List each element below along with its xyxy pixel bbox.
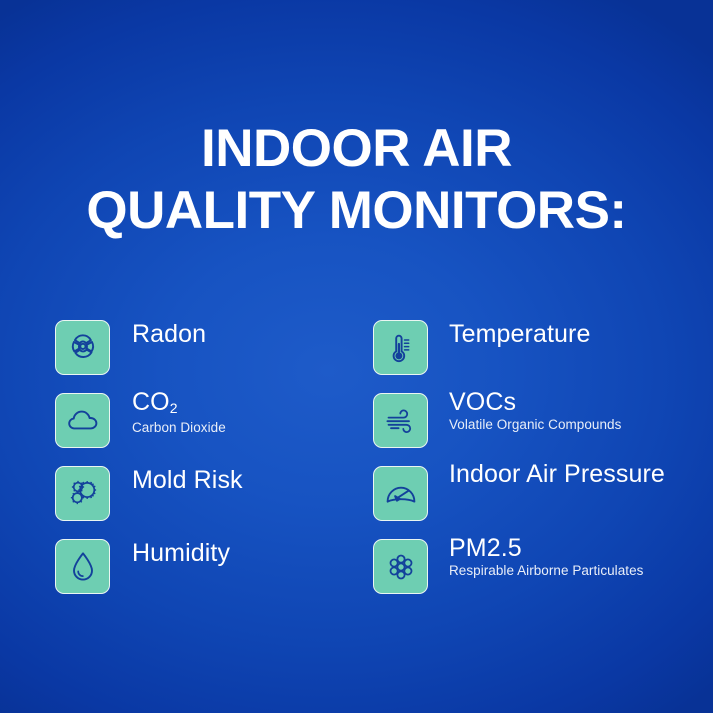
- list-item-temperature: Temperature: [373, 306, 693, 379]
- list-item-label-co2: CO2: [132, 388, 226, 420]
- list-item-sublabel-pm25: Respirable Airborne Particulates: [449, 563, 643, 579]
- list-item-humidity: Humidity: [55, 525, 355, 598]
- tile-vocs: [373, 393, 428, 448]
- list-item-co2: CO2 Carbon Dioxide: [55, 379, 355, 452]
- label-wrap-indoor-air-pressure: Indoor Air Pressure: [449, 452, 689, 489]
- label-wrap-vocs: VOCs Volatile Organic Compounds: [449, 379, 621, 433]
- tile-co2: [55, 393, 110, 448]
- wind-flow-icon: [382, 402, 420, 440]
- tile-mold-risk: [55, 466, 110, 521]
- page-title-line-1: INDOOR AIR: [0, 118, 713, 180]
- list-item-label-indoor-air-pressure: Indoor Air Pressure: [449, 460, 689, 489]
- label-wrap-co2: CO2 Carbon Dioxide: [132, 379, 226, 436]
- label-wrap-pm25: PM2.5 Respirable Airborne Particulates: [449, 525, 643, 579]
- list-item-label-pm25: PM2.5: [449, 534, 643, 563]
- cloud-icon: [64, 402, 102, 440]
- list-item-label-temperature: Temperature: [449, 320, 590, 349]
- list-item-mold-risk: Mold Risk: [55, 452, 355, 525]
- list-item-sublabel-co2: Carbon Dioxide: [132, 420, 226, 436]
- list-item-label-mold-risk: Mold Risk: [132, 466, 243, 495]
- mold-spores-icon: [64, 475, 102, 513]
- co2-prefix: CO: [132, 388, 170, 416]
- list-item-pm25: PM2.5 Respirable Airborne Particulates: [373, 525, 693, 598]
- label-wrap-humidity: Humidity: [132, 525, 230, 568]
- label-wrap-radon: Radon: [132, 306, 206, 349]
- monitor-list-right-column: Temperature: [373, 306, 693, 598]
- monitor-list-left-column: Radon CO2 Carbon Dioxide: [55, 306, 355, 598]
- tile-indoor-air-pressure: [373, 466, 428, 521]
- list-item-radon: Radon: [55, 306, 355, 379]
- co2-subscript: 2: [170, 400, 178, 416]
- tile-temperature: [373, 320, 428, 375]
- page-title: INDOOR AIR QUALITY MONITORS:: [0, 118, 713, 242]
- thermometer-icon: [383, 330, 419, 366]
- list-item-indoor-air-pressure: Indoor Air Pressure: [373, 452, 693, 525]
- label-wrap-mold-risk: Mold Risk: [132, 452, 243, 495]
- label-wrap-temperature: Temperature: [449, 306, 590, 349]
- list-item-vocs: VOCs Volatile Organic Compounds: [373, 379, 693, 452]
- radiation-trefoil-icon: [65, 330, 101, 366]
- poster-canvas: INDOOR AIR QUALITY MONITORS:: [0, 0, 713, 713]
- tile-pm25: [373, 539, 428, 594]
- pressure-gauge-icon: [382, 475, 420, 513]
- list-item-sublabel-vocs: Volatile Organic Compounds: [449, 417, 621, 433]
- list-item-label-humidity: Humidity: [132, 539, 230, 568]
- page-title-line-2: QUALITY MONITORS:: [0, 180, 713, 242]
- water-droplet-icon: [65, 549, 101, 585]
- particulate-cluster-icon: [382, 548, 420, 586]
- list-item-label-radon: Radon: [132, 320, 206, 349]
- tile-radon: [55, 320, 110, 375]
- tile-humidity: [55, 539, 110, 594]
- list-item-label-vocs: VOCs: [449, 388, 621, 417]
